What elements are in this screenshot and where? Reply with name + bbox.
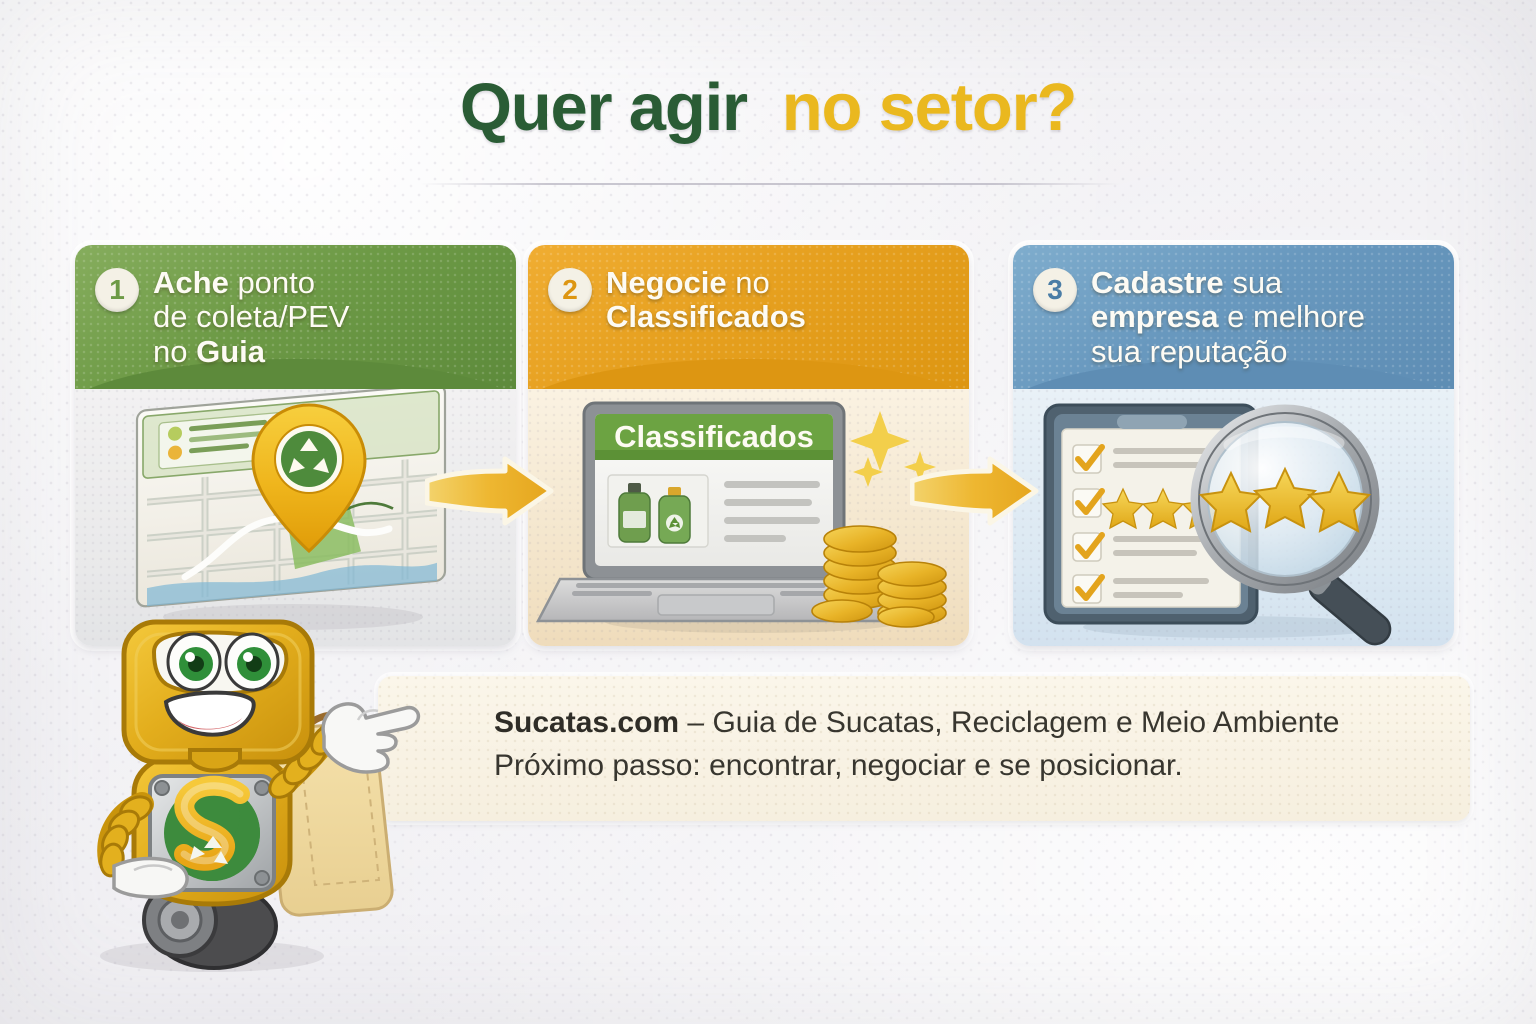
page-title: Quer agir no setor? <box>0 74 1536 141</box>
footer-line-2: Próximo passo: encontrar, negociar e se … <box>494 745 1450 788</box>
step-card-3-title: Cadastre sua empresa e melhore sua reput… <box>1091 265 1365 369</box>
robot-left-hand <box>114 859 187 897</box>
laptop-with-coins-illustration: Classificados <box>528 389 969 646</box>
step2-word-classificados: Classificados <box>606 299 806 334</box>
robot-head <box>124 622 312 771</box>
step1-line2: de coleta/PEV <box>153 299 349 334</box>
checklist-stars-magnifier-illustration <box>1013 389 1454 646</box>
step1-word-guia: Guia <box>196 334 265 369</box>
step-card-2[interactable]: 2 Negocie no Classificados <box>528 245 969 646</box>
title-part-gold: no setor? <box>782 70 1076 145</box>
step1-word-no: no <box>153 334 187 369</box>
step-card-2-title: Negocie no Classificados <box>606 265 806 335</box>
step-card-3-body <box>1013 389 1454 646</box>
step-card-3-header: 3 Cadastre sua empresa e melhore sua rep… <box>1013 245 1454 389</box>
step-card-2-body: Classificados <box>528 389 969 646</box>
steps-container: 1 Ache ponto de coleta/PEV no Guia <box>75 245 1475 650</box>
title-part-green: Quer agir <box>460 70 747 145</box>
footer-line-1: Sucatas.com – Guia de Sucatas, Reciclage… <box>494 702 1450 745</box>
step-number-badge-3: 3 <box>1033 268 1077 312</box>
step3-word-empresa: empresa <box>1091 299 1219 334</box>
arrow-right-icon-2 <box>910 455 1040 529</box>
step-card-1-header: 1 Ache ponto de coleta/PEV no Guia <box>75 245 516 389</box>
step1-word-ponto: ponto <box>237 265 315 300</box>
step-number-badge-2: 2 <box>548 268 592 312</box>
step2-word-no: no <box>735 265 769 300</box>
coin-stacks <box>812 526 946 627</box>
step-card-3[interactable]: 3 Cadastre sua empresa e melhore sua rep… <box>1013 245 1454 646</box>
step1-word-ache: Ache <box>153 265 229 300</box>
step3-word-sua: sua <box>1232 265 1282 300</box>
step3-word-cadastre: Cadastre <box>1091 265 1224 300</box>
step-card-2-header: 2 Negocie no Classificados <box>528 245 969 389</box>
footer-panel: Sucatas.com – Guia de Sucatas, Reciclage… <box>378 676 1470 821</box>
footer-brand: Sucatas.com <box>494 706 679 739</box>
step3-line3: sua reputação <box>1091 334 1287 369</box>
step3-phrase-e-melhore: e melhore <box>1227 299 1365 334</box>
laptop-screen-title: Classificados <box>614 419 814 454</box>
step2-word-negocie: Negocie <box>606 265 727 300</box>
pointing-hand-icon <box>323 704 418 772</box>
title-divider <box>420 183 1120 185</box>
sucatas-robot-mascot <box>62 608 422 978</box>
step-number-badge-1: 1 <box>95 268 139 312</box>
step-card-1-title: Ache ponto de coleta/PEV no Guia <box>153 265 349 369</box>
footer-tagline: – Guia de Sucatas, Reciclagem e Meio Amb… <box>679 706 1339 739</box>
step-card-1[interactable]: 1 Ache ponto de coleta/PEV no Guia <box>75 245 516 646</box>
arrow-right-icon-1 <box>425 455 555 529</box>
